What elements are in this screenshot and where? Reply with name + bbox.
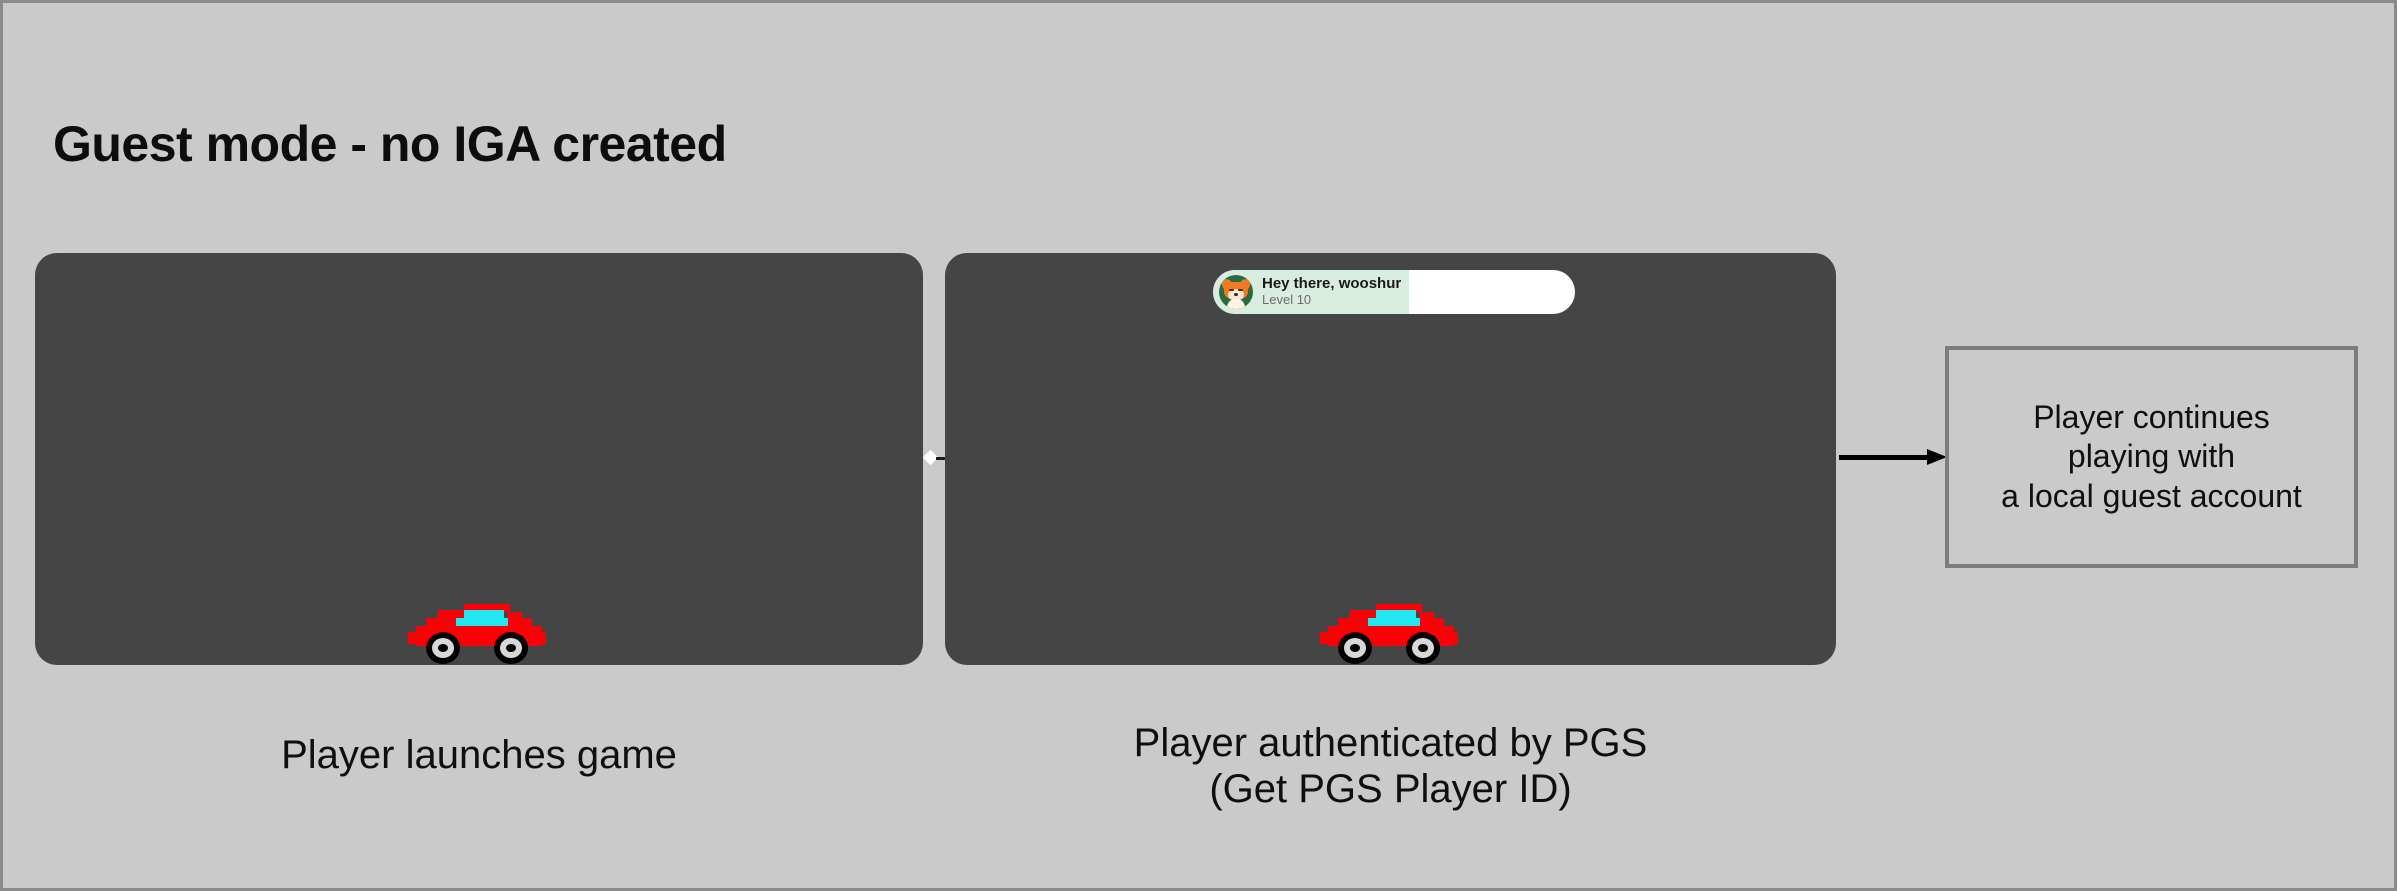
outcome-line-3: a local guest account <box>2001 477 2302 516</box>
toast-level: Level 10 <box>1262 293 1401 308</box>
step-1-caption: Player launches game <box>35 733 923 779</box>
step-2-caption-line-2: (Get PGS Player ID) <box>945 767 1836 813</box>
toast-text-block: Hey there, wooshur Level 10 <box>1262 276 1401 307</box>
outcome-line-1: Player continues <box>2001 398 2302 437</box>
outcome-text: Player continues playing with a local gu… <box>2001 398 2302 515</box>
diagram-canvas: Guest mode - no IGA created Trivi <box>0 0 2397 891</box>
toast-greeting: Hey there, wooshur <box>1262 276 1401 293</box>
pixel-race-car-icon <box>408 598 550 664</box>
page-title: Guest mode - no IGA created <box>53 115 727 173</box>
outcome-line-2: playing with <box>2001 437 2302 476</box>
fox-avatar-icon <box>1219 275 1253 309</box>
panel-1-content: Trivial Kart <box>35 598 923 665</box>
outcome-box: Player continues playing with a local gu… <box>1945 346 2358 568</box>
step-2-caption: Player authenticated by PGS (Get PGS Pla… <box>945 721 1836 812</box>
step-1-caption-line-1: Player launches game <box>35 733 923 779</box>
pgs-sign-in-toast[interactable]: Hey there, wooshur Level 10 <box>1213 270 1575 314</box>
step-2-caption-line-1: Player authenticated by PGS <box>945 721 1836 767</box>
game-screenshot-panel-2: Hey there, wooshur Level 10 <box>945 253 1836 665</box>
white-diamond-marker <box>924 448 946 464</box>
panel-2-content: Trivial Kart <box>945 598 1836 665</box>
game-screenshot-panel-1: Trivial Kart <box>35 253 923 665</box>
right-arrow-icon <box>1839 449 1947 465</box>
pixel-race-car-icon <box>1320 598 1462 664</box>
